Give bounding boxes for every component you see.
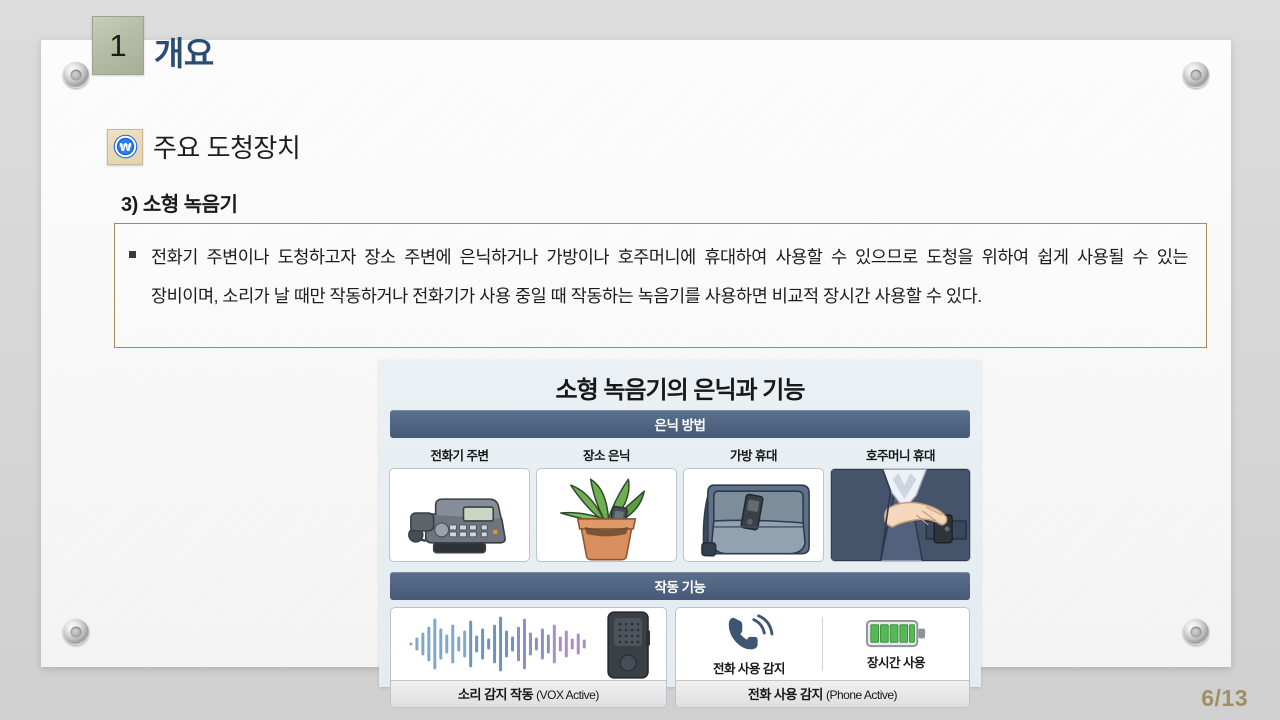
function-grid: 소리 감지 작동 (VOX Active) <box>390 607 970 708</box>
slide-stage: 1 개요 ₩ 주요 도청장치 3) 소형 녹음기 전화기 주변이나 도청하고자 … <box>0 0 1280 720</box>
function-card-phone: 전화 사용 감지 <box>675 607 970 708</box>
diagram-title: 소형 녹음기의 은닉과 기능 <box>390 360 970 410</box>
screw-icon-bottom-left <box>63 619 89 645</box>
item-heading: 3) 소형 녹음기 <box>121 188 237 217</box>
long-use-label: 장시간 사용 <box>867 652 925 671</box>
function-caption-ko: 전화 사용 감지 <box>748 687 823 702</box>
svg-text:₩: ₩ <box>119 141 131 154</box>
waveform-recorder-icon <box>391 608 666 680</box>
hiding-method-label: 가방 휴대 <box>730 445 777 464</box>
function-card-vox: 소리 감지 작동 (VOX Active) <box>390 607 667 708</box>
function-caption: 소리 감지 작동 (VOX Active) <box>391 680 666 707</box>
battery-col: 장시간 사용 <box>822 617 969 671</box>
phone-detect-col: 전화 사용 감지 <box>676 612 822 677</box>
screw-icon-bottom-right <box>1183 619 1209 645</box>
phone-detect-label: 전화 사용 감지 <box>713 658 785 677</box>
hiding-method-label: 장소 은닉 <box>583 445 630 464</box>
page-number: 6/13 <box>1201 685 1248 712</box>
function-caption-ko: 소리 감지 작동 <box>458 687 533 702</box>
subheading-label: 주요 도청장치 <box>153 128 300 165</box>
desk-phone-icon <box>389 468 530 562</box>
function-caption: 전화 사용 감지 (Phone Active) <box>676 680 969 707</box>
body-text: 전화기 주변이나 도청하고자 장소 주변에 은닉하거나 가방이나 호주머니에 휴… <box>151 238 1188 347</box>
hiding-methods-band: 은닉 방법 <box>390 410 970 438</box>
shoulder-bag-icon <box>683 468 824 562</box>
hiding-method-cell: 장소 은닉 <box>537 445 676 562</box>
slide-panel: 1 개요 ₩ 주요 도청장치 3) 소형 녹음기 전화기 주변이나 도청하고자 … <box>41 40 1231 667</box>
hiding-method-cell: 전화기 주변 <box>390 445 529 562</box>
body-text-box: 전화기 주변이나 도청하고자 장소 주변에 은닉하거나 가방이나 호주머니에 휴… <box>114 223 1207 348</box>
diagram-figure: 소형 녹음기의 은닉과 기능 은닉 방법 전화기 주변 <box>379 360 981 687</box>
hiding-methods-grid: 전화기 주변 <box>390 445 970 562</box>
hiding-method-label: 호주머니 휴대 <box>866 445 935 464</box>
page-title: 개요 <box>154 37 214 75</box>
slide-header: 1 개요 <box>92 16 214 75</box>
won-circle-icon: ₩ <box>107 129 143 165</box>
section-number-badge: 1 <box>92 16 144 75</box>
hiding-method-cell: 호주머니 휴대 <box>831 445 970 562</box>
function-caption-en: (Phone Active) <box>826 688 897 702</box>
ringing-phone-icon <box>722 612 776 656</box>
battery-full-icon <box>865 617 927 650</box>
subheading-row: ₩ 주요 도청장치 <box>107 128 300 165</box>
potted-plant-icon <box>536 468 677 562</box>
square-bullet-icon <box>129 238 151 347</box>
hiding-method-cell: 가방 휴대 <box>684 445 823 562</box>
screw-icon-top-right <box>1183 62 1209 88</box>
function-band: 작동 기능 <box>390 572 970 600</box>
suit-pocket-icon <box>830 468 971 562</box>
function-caption-en: (VOX Active) <box>536 688 599 702</box>
hiding-method-label: 전화기 주변 <box>431 445 489 464</box>
screw-icon-top-left <box>63 62 89 88</box>
